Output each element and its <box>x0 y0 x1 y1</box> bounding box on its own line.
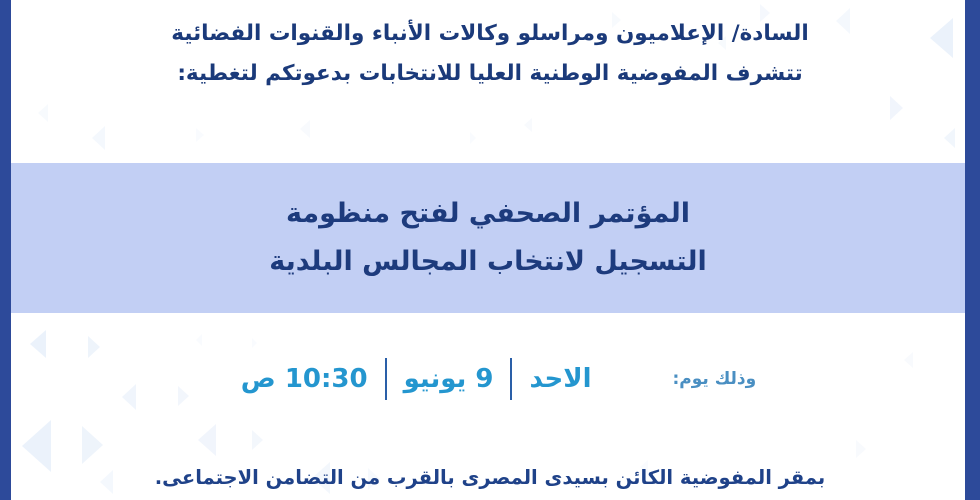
venue-text-block: بمقر المفوضية الكائن بسيدى المصرى بالقرب… <box>0 462 980 494</box>
title-banner: المؤتمر الصحفي لفتح منظومة التسجيل لانتخ… <box>11 163 965 313</box>
datetime-separator-1 <box>510 358 512 400</box>
intro-line-2: تتشرف المفوضية الوطنية العليا للانتخابات… <box>44 54 936 94</box>
poster-canvas: السادة/ الإعلاميون ومراسلو وكالات الأنبا… <box>0 0 980 500</box>
venue-line-1: بمقر المفوضية الكائن بسيدى المصرى بالقرب… <box>44 462 936 494</box>
banner-title-line-1: المؤتمر الصحفي لفتح منظومة <box>286 190 690 238</box>
event-datetime-row: وذلك يوم: الاحد 9 يونيو 10:30 ص <box>0 358 980 400</box>
poster-content: السادة/ الإعلاميون ومراسلو وكالات الأنبا… <box>0 0 980 500</box>
intro-text-block: السادة/ الإعلاميون ومراسلو وكالات الأنبا… <box>0 14 980 94</box>
left-accent-bar <box>0 0 11 500</box>
date-label: وذلك يوم: <box>673 369 757 389</box>
event-day-name: الاحد <box>512 364 608 394</box>
event-date: 9 يونيو <box>387 364 511 394</box>
event-time: 10:30 ص <box>224 364 385 394</box>
banner-title-line-2: التسجيل لانتخاب المجالس البلدية <box>269 238 707 286</box>
intro-line-1: السادة/ الإعلاميون ومراسلو وكالات الأنبا… <box>44 14 936 54</box>
datetime-separator-2 <box>385 358 387 400</box>
right-accent-bar <box>965 0 980 500</box>
